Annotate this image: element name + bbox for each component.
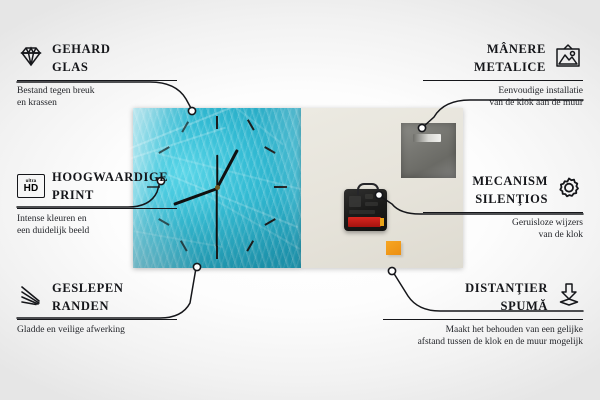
- callout-desc-line1: Intense kleuren en: [17, 214, 177, 226]
- hanger-keyhole-slot: [413, 134, 441, 142]
- callout-desc-line2: van de klok aan de muur: [423, 98, 583, 110]
- product-image: [133, 108, 463, 268]
- callout-heading: GEHARD GLAS: [17, 40, 177, 76]
- second-hand: [216, 188, 218, 246]
- gear-icon: [555, 175, 583, 206]
- callout-desc-line1: Geruisloze wijzers: [423, 218, 583, 230]
- callout-desc-line1: Eenvoudige installatie: [423, 86, 583, 98]
- infographic-stage: GEHARD GLAS Bestand tegen breuk en krass…: [0, 0, 600, 400]
- clock-tick: [246, 240, 253, 251]
- picture-hanger-icon: [553, 43, 583, 74]
- callout-title: GESLEPEN RANDEN: [52, 279, 124, 315]
- foam-spacer: [386, 241, 401, 255]
- minute-hand: [173, 187, 217, 206]
- callout-geslepen-randen[interactable]: GESLEPEN RANDEN Gladde en veilige afwerk…: [17, 279, 177, 337]
- clock-tick: [264, 218, 275, 225]
- aa-battery: [348, 217, 381, 227]
- clock-tick: [247, 119, 254, 130]
- callout-heading: MECANISM SILENŢIOS: [423, 172, 583, 208]
- callout-divider: [17, 319, 177, 320]
- callout-title: GEHARD GLAS: [52, 40, 110, 76]
- callout-divider: [423, 80, 583, 81]
- callout-desc-line2: afstand tussen de klok en de muur mogeli…: [383, 337, 583, 349]
- clock-tick: [274, 186, 287, 188]
- clock-tick: [216, 246, 218, 259]
- callout-mecanism-silentios[interactable]: MECANISM SILENŢIOS Geruisloze wijzers va…: [423, 172, 583, 241]
- callout-desc-line2: een duidelijk beeld: [17, 226, 177, 238]
- clock-tick: [158, 146, 169, 153]
- callout-desc-line1: Bestand tegen breuk: [17, 86, 177, 98]
- callout-title: DISTANŢIER SPUMĂ: [465, 279, 548, 315]
- callout-divider: [423, 212, 583, 213]
- second-hand-tail: [216, 154, 218, 188]
- callout-title: HOOGWAARDIGE PRINT: [52, 168, 168, 204]
- callout-heading: DISTANŢIER SPUMĂ: [383, 279, 583, 315]
- callout-title: MÂNERE METALICE: [474, 40, 546, 76]
- quartz-movement-box: [344, 189, 387, 231]
- callout-desc-line2: en krassen: [17, 98, 177, 110]
- clock-tick: [264, 146, 275, 153]
- callout-divider: [17, 208, 177, 209]
- clock-tick: [181, 121, 188, 132]
- callout-divider: [17, 80, 177, 81]
- callout-desc-line1: Maakt het behouden van een gelijke: [383, 325, 583, 337]
- callout-desc-line2: van de klok: [423, 230, 583, 242]
- clock-tick: [180, 240, 187, 251]
- callout-heading: ultra HD HOOGWAARDIGE PRINT: [17, 168, 177, 204]
- beveled-edges-icon: [17, 283, 45, 312]
- callout-divider: [383, 319, 583, 320]
- callout-distantier-spuma[interactable]: DISTANŢIER SPUMĂ Maakt het behouden van …: [383, 279, 583, 348]
- callout-desc-line1: Gladde en veilige afwerking: [17, 325, 177, 337]
- diamond-icon: [17, 44, 45, 73]
- clock-hub: [215, 185, 220, 190]
- hour-hand: [216, 149, 240, 189]
- callout-hoogwaardige-print[interactable]: ultra HD HOOGWAARDIGE PRINT Intense kleu…: [17, 168, 177, 237]
- spacer-arrow-icon: [555, 282, 583, 313]
- callout-heading: MÂNERE METALICE: [423, 40, 583, 76]
- callout-title: MECANISM SILENŢIOS: [472, 172, 548, 208]
- callout-heading: GESLEPEN RANDEN: [17, 279, 177, 315]
- callout-manere-metalice[interactable]: MÂNERE METALICE Eenvoudige installatie v…: [423, 40, 583, 109]
- leader-endpoint: [388, 267, 395, 274]
- metal-hanger-plate: [401, 123, 456, 178]
- clock-tick: [216, 116, 218, 129]
- callout-gehard-glas[interactable]: GEHARD GLAS Bestand tegen breuk en krass…: [17, 40, 177, 109]
- ultra-hd-main-text: HD: [24, 184, 39, 194]
- battery-terminal: [380, 218, 384, 226]
- ultra-hd-icon: ultra HD: [17, 174, 45, 198]
